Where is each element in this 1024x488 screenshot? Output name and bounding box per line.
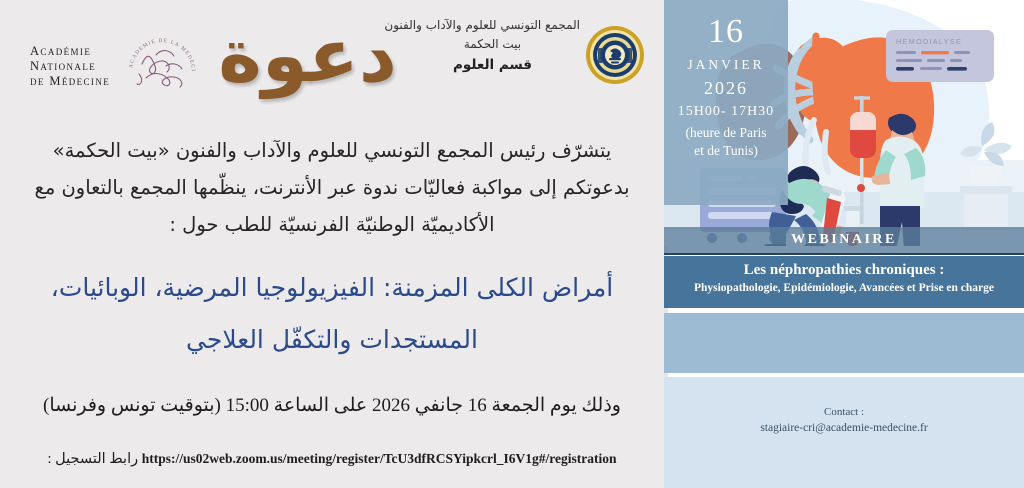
- webinar-title-block: Les néphropathies chroniques : Physiopat…: [664, 256, 1024, 308]
- event-timezone-line2: et de Tunis): [664, 142, 788, 160]
- bayt-line3: قسم العلوم: [405, 54, 580, 76]
- arabic-calligraphy-invitation: دعوة: [200, 6, 415, 106]
- event-day: 16: [664, 10, 788, 54]
- invitation-body-paragraph: يتشرّف رئيس المجمع التونسي للعلوم والآدا…: [30, 132, 634, 243]
- webinar-title-sub: Physiopathologie, Epidémiologie, Avancée…: [664, 281, 1024, 295]
- header-logos: Académie Nationale de Médecine ACADEMIE …: [0, 0, 664, 125]
- registration-label: رابط التسجيل :: [48, 451, 139, 467]
- academie-logo-line2: Nationale: [30, 59, 135, 74]
- webinaire-badge: WEBINAIRE: [664, 227, 1024, 255]
- right-panel: HEMODIALYSE: [664, 0, 1024, 488]
- seminar-date-arabic: وذلك يوم الجمعة 16 جانفي 2026 على الساعة…: [30, 392, 634, 420]
- bayt-al-hikma-text: المجمع التونسي للعلوم والآداب والفنون بي…: [405, 16, 580, 76]
- hemodialyse-card: HEMODIALYSE: [886, 30, 994, 82]
- webinar-title-main: Les néphropathies chroniques :: [664, 260, 1024, 281]
- academie-logo-line3: de Médecine: [30, 74, 135, 89]
- event-month: JANVIER: [664, 54, 788, 76]
- accent-band: [664, 313, 1024, 373]
- bayt-line1: المجمع التونسي للعلوم والآداب والفنون: [405, 16, 580, 34]
- seminar-title-arabic: أمراض الكلى المزمنة: الفيزيولوجيا المرضي…: [20, 262, 644, 366]
- event-hours: 15H00- 17H30: [664, 100, 788, 124]
- svg-text:HEMODIALYSE: HEMODIALYSE: [896, 37, 962, 46]
- date-time-panel: 16 JANVIER 2026 15H00- 17H30 (heure de P…: [664, 0, 788, 205]
- academie-logo-line1: Académie: [30, 44, 135, 59]
- bayt-al-hikma-emblem-icon: [585, 24, 645, 86]
- calligraphy-word: دعوة: [200, 6, 415, 106]
- academie-nationale-de-medecine-logo: Académie Nationale de Médecine ACADEMIE …: [30, 38, 205, 100]
- contact-email[interactable]: stagiaire-cri@academie-medecine.fr: [664, 420, 1024, 436]
- contact-block: Contact : stagiaire-cri@academie-medecin…: [664, 377, 1024, 488]
- academie-seal-icon: ACADEMIE DE LA MEDECINE: [122, 28, 206, 108]
- left-panel: Académie Nationale de Médecine ACADEMIE …: [0, 0, 664, 488]
- event-timezone-line1: (heure de Paris: [664, 124, 788, 142]
- invitation-poster: Académie Nationale de Médecine ACADEMIE …: [0, 0, 1024, 488]
- registration-line: https://us02web.zoom.us/meeting/register…: [30, 448, 634, 470]
- contact-label: Contact :: [664, 404, 1024, 420]
- illustration-kidneys-dialysis: HEMODIALYSE: [664, 0, 1024, 246]
- bayt-line2: بيت الحكمة: [405, 34, 580, 54]
- academie-logo-text: Académie Nationale de Médecine: [30, 44, 135, 89]
- registration-link[interactable]: https://us02web.zoom.us/meeting/register…: [142, 451, 617, 466]
- svg-text:ACADEMIE DE LA MEDECINE: ACADEMIE DE LA MEDECINE: [122, 28, 196, 72]
- event-year: 2026: [664, 76, 788, 100]
